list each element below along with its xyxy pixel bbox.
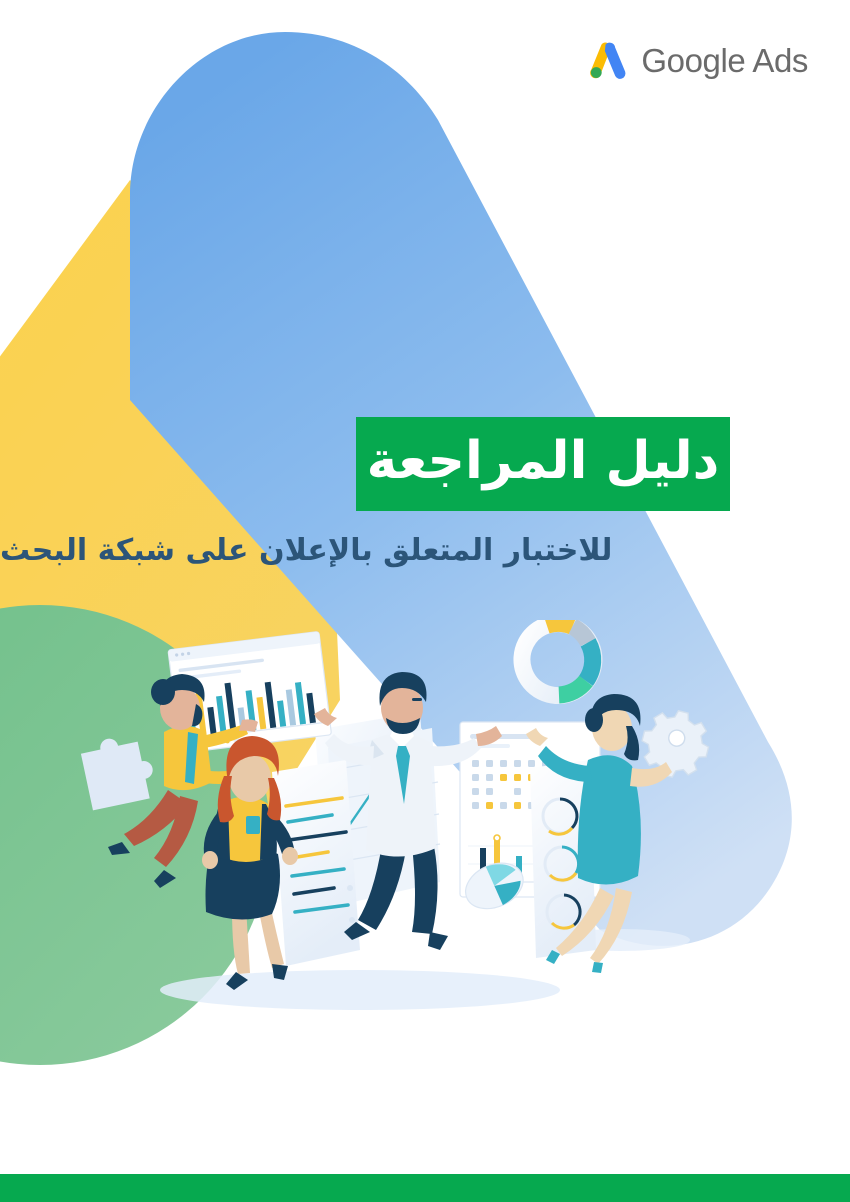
ground-shadow <box>160 970 560 1010</box>
page-title: دليل المراجعة <box>367 435 720 493</box>
bottom-accent-bar <box>0 1174 850 1202</box>
donut-chart <box>513 620 604 705</box>
puzzle-piece-icon <box>79 731 158 810</box>
brand-logo-group: Google Ads <box>587 40 808 82</box>
cover-page: Google Ads دليل المراجعة للاختبار المتعل… <box>0 0 850 1202</box>
title-band: دليل المراجعة <box>356 417 730 511</box>
page-subtitle-wrapper: للاختبار المتعلق بالإعلان على شبكة البحث <box>0 533 730 569</box>
brand-wordmark: Google Ads <box>641 42 808 80</box>
page-subtitle: للاختبار المتعلق بالإعلان على شبكة البحث <box>0 533 612 569</box>
google-ads-logo-icon <box>587 40 629 82</box>
team-analytics-illustration <box>60 620 780 1040</box>
